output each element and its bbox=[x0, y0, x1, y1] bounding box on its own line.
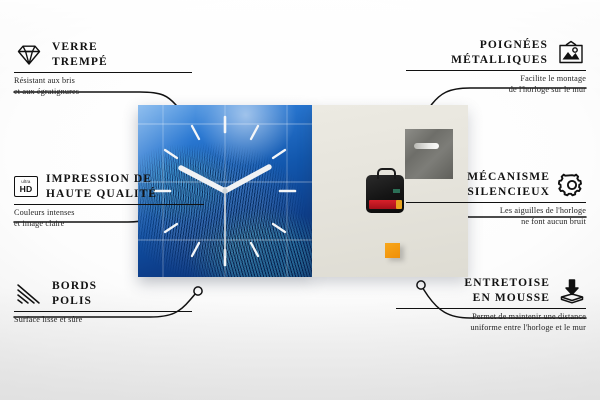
foam-spacer-icon bbox=[558, 278, 586, 304]
callout-title: BORDS POLIS bbox=[52, 279, 97, 308]
callout-divider bbox=[14, 311, 192, 312]
diamond-icon bbox=[14, 43, 44, 67]
tick-5 bbox=[251, 243, 258, 256]
callout-title: VERRE TREMPÉ bbox=[52, 40, 108, 69]
callout-subtitle-line1: Permet de maintenir une distance bbox=[396, 312, 586, 323]
callout-title: IMPRESSION DE HAUTE QUALITÉ bbox=[46, 172, 157, 201]
callout-title: POIGNÉES MÉTALLIQUES bbox=[451, 38, 548, 67]
ultra-hd-icon-main-text: HD bbox=[20, 185, 33, 194]
gear-icon bbox=[558, 172, 586, 198]
callout-header: MÉCANISME SILENCIEUX bbox=[406, 170, 586, 199]
callout-header: ultra HD IMPRESSION DE HAUTE QUALITÉ bbox=[14, 172, 206, 201]
callout-bords-polis[interactable]: BORDS POLIS Surface lisse et sûre bbox=[14, 279, 194, 326]
ultra-hd-icon: ultra HD bbox=[14, 176, 38, 197]
callout-subtitle-line1: Surface lisse et sûre bbox=[14, 315, 194, 326]
tick-10 bbox=[165, 150, 177, 158]
tick-11 bbox=[192, 126, 199, 139]
tick-2 bbox=[273, 150, 285, 158]
polished-edge-icon bbox=[14, 282, 44, 306]
callout-subtitle-line2: et image claire bbox=[14, 219, 206, 230]
callout-title: ENTRETOISE EN MOUSSE bbox=[464, 276, 550, 305]
callout-mecanisme-silencieux[interactable]: MÉCANISME SILENCIEUX Les aiguilles de l'… bbox=[406, 170, 586, 227]
battery-positive-terminal bbox=[396, 200, 402, 209]
callout-divider bbox=[14, 72, 192, 73]
callout-subtitle-line1: Les aiguilles de l'horloge bbox=[406, 206, 586, 217]
callout-header: ENTRETOISE EN MOUSSE bbox=[396, 276, 586, 305]
callout-poignees-metalliques[interactable]: POIGNÉES MÉTALLIQUES Facilite le montage… bbox=[406, 38, 586, 95]
callout-subtitle-line2: de l'horloge sur le mur bbox=[406, 85, 586, 96]
callout-subtitle-line2: et aux égratignures bbox=[14, 87, 194, 98]
infographic-canvas: VERRE TREMPÉ Résistant aux bris et aux é… bbox=[0, 0, 600, 400]
tick-1 bbox=[251, 126, 258, 139]
callout-subtitle-line1: Résistant aux bris bbox=[14, 76, 194, 87]
tick-7 bbox=[192, 243, 199, 256]
callout-subtitle-line2: ne font aucun bruit bbox=[406, 217, 586, 228]
callout-divider bbox=[14, 204, 204, 205]
picture-hanger-icon bbox=[556, 40, 586, 66]
callout-verre-trempe[interactable]: VERRE TREMPÉ Résistant aux bris et aux é… bbox=[14, 40, 194, 97]
callout-subtitle-line2: uniforme entre l'horloge et le mur bbox=[396, 323, 586, 334]
battery bbox=[369, 200, 399, 209]
dot-bords bbox=[194, 287, 202, 295]
foam-spacer-pad bbox=[385, 243, 400, 258]
hanger-keyhole-slot bbox=[414, 143, 439, 149]
callout-header: POIGNÉES MÉTALLIQUES bbox=[406, 38, 586, 67]
movement-chip bbox=[393, 189, 400, 193]
callout-subtitle-line1: Couleurs intenses bbox=[14, 208, 206, 219]
callout-divider bbox=[396, 308, 586, 309]
minute-hand bbox=[225, 167, 269, 191]
callout-header: VERRE TREMPÉ bbox=[14, 40, 194, 69]
callout-divider bbox=[406, 202, 586, 203]
movement-hanging-loop bbox=[377, 168, 396, 179]
tick-4 bbox=[273, 224, 285, 232]
callout-divider bbox=[406, 70, 586, 71]
callout-entretoise-en-mousse[interactable]: ENTRETOISE EN MOUSSE Permet de maintenir… bbox=[396, 276, 586, 333]
callout-subtitle-line1: Facilite le montage bbox=[406, 74, 586, 85]
quartz-movement-box bbox=[366, 175, 404, 213]
hands-center-cap bbox=[222, 188, 227, 193]
callout-title: MÉCANISME SILENCIEUX bbox=[467, 170, 550, 199]
callout-impression-haute-qualite[interactable]: ultra HD IMPRESSION DE HAUTE QUALITÉ Cou… bbox=[14, 172, 206, 229]
callout-header: BORDS POLIS bbox=[14, 279, 194, 308]
